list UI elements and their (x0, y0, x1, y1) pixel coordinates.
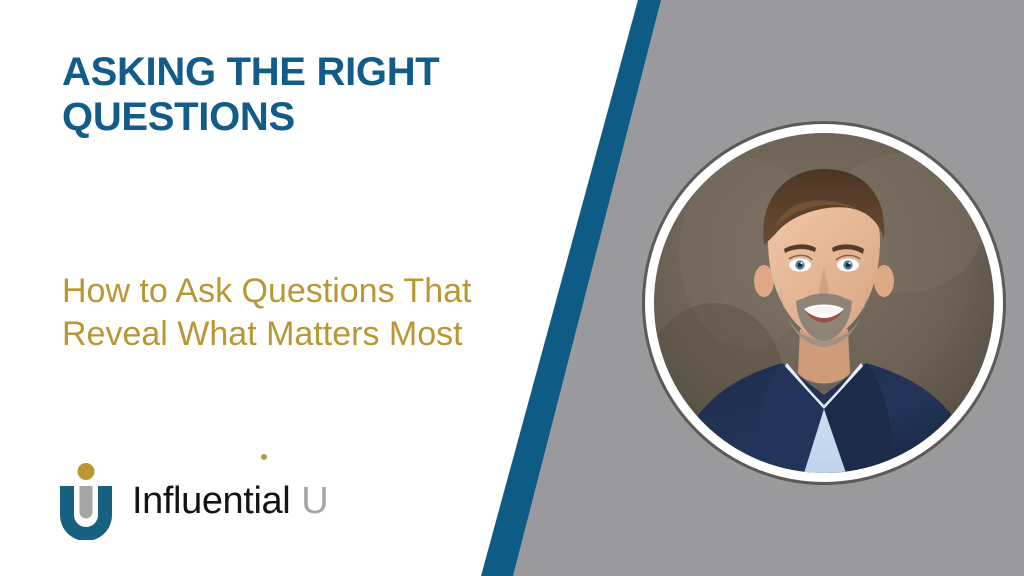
influential-u-logo-mark-icon (56, 462, 116, 540)
brand-wordmark: Influential U (132, 482, 328, 520)
brand-wordmark-influential: Influential (132, 480, 290, 522)
logo-inner-stem-icon (80, 486, 93, 519)
slide-canvas: Asking the Right Questions How to Ask Qu… (0, 0, 1024, 576)
page-subtitle: How to Ask Questions That Reveal What Ma… (62, 270, 532, 356)
brand-wordmark-u: U (301, 482, 328, 520)
wordmark-gold-dot-icon (261, 454, 267, 460)
left-content-column: Asking the Right Questions How to Ask Qu… (0, 0, 520, 576)
speaker-portrait (645, 124, 1003, 482)
page-title: Asking the Right Questions (62, 50, 482, 140)
portrait-photo (654, 133, 994, 473)
logo-gold-dot-icon (78, 463, 95, 480)
brand-logo-lockup[interactable]: Influential U (56, 462, 328, 540)
